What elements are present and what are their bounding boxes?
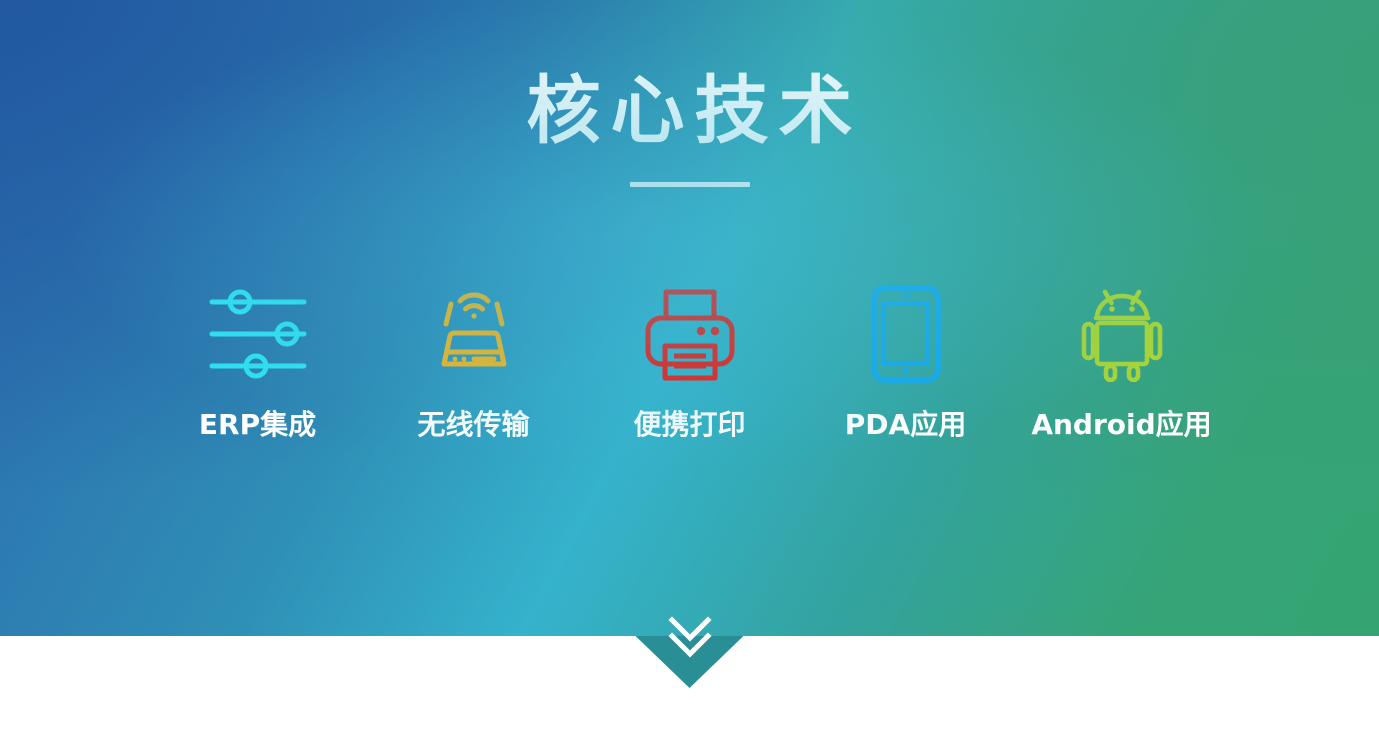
android-robot-icon	[1014, 282, 1230, 386]
feature-item-pda[interactable]: PDA应用	[798, 282, 1014, 441]
feature-label: Android应用	[1031, 410, 1211, 441]
page-root: 核心技术 ERP集成	[0, 0, 1379, 755]
title-divider	[630, 182, 750, 187]
feature-label: 无线传输	[417, 410, 529, 441]
hero-section: 核心技术 ERP集成	[0, 0, 1379, 636]
feature-label: PDA应用	[845, 410, 966, 441]
sliders-icon	[150, 282, 366, 386]
scroll-down-tab[interactable]	[636, 636, 744, 688]
feature-label: 便携打印	[633, 410, 745, 441]
feature-label: ERP集成	[199, 410, 316, 441]
tablet-icon	[798, 282, 1014, 386]
feature-item-erp[interactable]: ERP集成	[150, 282, 366, 441]
feature-item-android[interactable]: Android应用	[1014, 282, 1230, 441]
printer-icon	[582, 282, 798, 386]
feature-item-wireless[interactable]: 无线传输	[366, 282, 582, 441]
feature-item-printer[interactable]: 便携打印	[582, 282, 798, 441]
feature-row: ERP集成	[0, 282, 1379, 441]
page-title: 核心技术	[517, 74, 863, 148]
page-title-wrap: 核心技术	[0, 74, 1379, 148]
router-wifi-icon	[366, 282, 582, 386]
